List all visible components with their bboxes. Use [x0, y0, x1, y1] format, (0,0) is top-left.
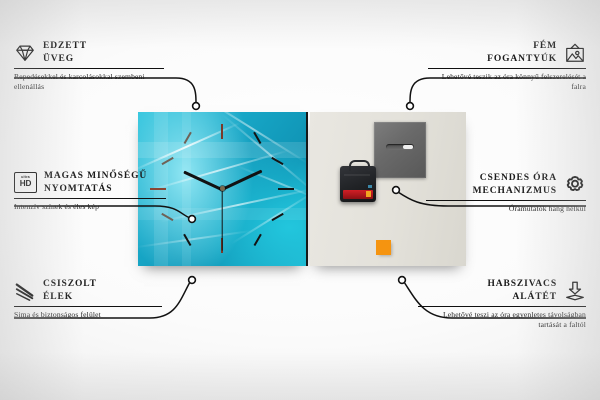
foam-pad — [376, 240, 391, 255]
feature-description: Óramutatók hang nélkül — [426, 204, 586, 214]
infographic-canvas: EDZETT ÜVEG Repedésekkel és karcolásokka… — [0, 0, 600, 400]
feature-description: Repedésekkel és karcolásokkal szembeni e… — [14, 72, 164, 92]
feature-title: MAGAS MINŐSÉGŰ NYOMTATÁS — [44, 170, 147, 195]
feature-silent-mechanism: CSENDES ÓRA MECHANIZMUS Óramutatók hang … — [426, 172, 586, 214]
wall-hanger-plate — [374, 122, 426, 178]
divider — [426, 200, 586, 201]
connector-dot-handles — [407, 103, 414, 110]
feature-title: FÉM FOGANTYÚK — [487, 40, 557, 65]
connector-dot-tempered-glass — [193, 103, 200, 110]
feature-description: Lehetővé teszik az óra könnyű felszerelé… — [428, 72, 586, 92]
clock-mechanism — [340, 166, 376, 202]
feature-description: Intenzív színek és éles kép — [14, 202, 166, 212]
divider — [14, 68, 164, 69]
feature-high-quality-print: ultraHD MAGAS MINŐSÉGŰ NYOMTATÁS Intenzí… — [14, 170, 166, 212]
feature-description: Sima és biztonságos felület — [14, 310, 162, 320]
diamond-icon — [14, 42, 36, 64]
feature-polished-edges: CSISZOLT ÉLEK Sima és biztonságos felüle… — [14, 278, 162, 320]
ultra-hd-icon: ultraHD — [14, 172, 37, 193]
polished-edges-icon — [14, 280, 36, 302]
wall-mount-icon — [564, 42, 586, 64]
divider — [14, 306, 162, 307]
foam-pad-icon — [564, 280, 586, 302]
feature-title: CSENDES ÓRA MECHANIZMUS — [473, 172, 557, 197]
battery-compartment — [343, 190, 373, 199]
feature-title: CSISZOLT ÉLEK — [43, 278, 97, 303]
feature-description: Lehetővé teszi az óra egyenletes távolsá… — [418, 310, 586, 330]
feature-title: HABSZIVACS ALÁTÉT — [487, 278, 557, 303]
connector-dot-foam — [399, 277, 406, 284]
product-image — [138, 112, 466, 266]
gear-icon — [564, 174, 586, 196]
feature-title: EDZETT ÜVEG — [43, 40, 87, 65]
divider — [14, 198, 166, 199]
feature-metal-handles: FÉM FOGANTYÚK Lehetővé teszik az óra kön… — [428, 40, 586, 92]
divider — [418, 306, 586, 307]
feature-tempered-glass: EDZETT ÜVEG Repedésekkel és karcolásokka… — [14, 40, 164, 92]
feature-foam-pad: HABSZIVACS ALÁTÉT Lehetővé teszi az óra … — [418, 278, 586, 330]
connector-dot-edges — [189, 277, 196, 284]
divider — [428, 68, 586, 69]
